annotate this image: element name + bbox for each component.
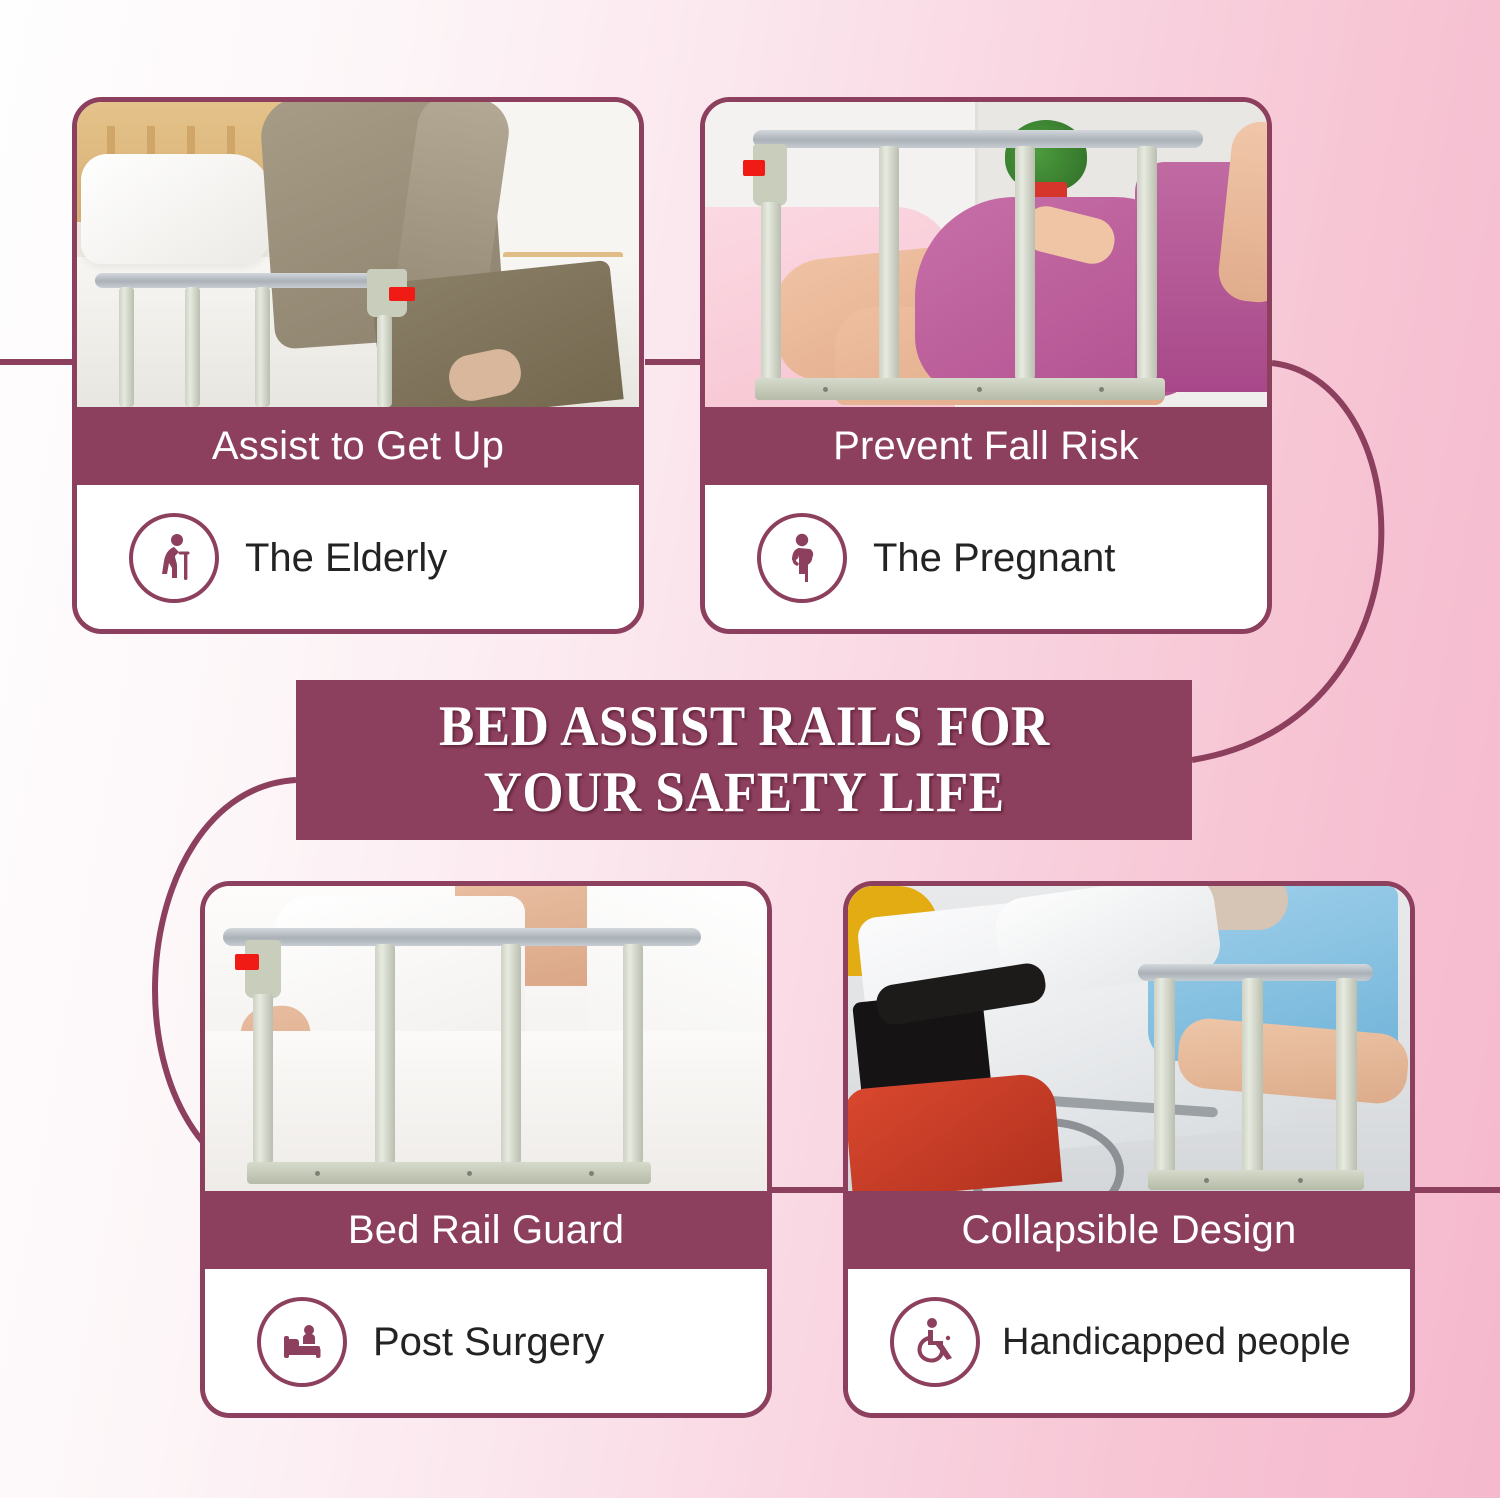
card-title-elderly: Assist to Get Up	[77, 407, 639, 485]
main-title-line-1: BED ASSIST RAILS FOR	[439, 694, 1050, 760]
card-audience-pregnant: The Pregnant	[873, 536, 1115, 581]
pregnant-woman-icon	[757, 513, 847, 603]
bed-rail-product	[727, 130, 1207, 400]
card-audience-handicap: Handicapped people	[1002, 1321, 1351, 1364]
card-photo-handicap	[848, 886, 1410, 1191]
patient-in-bed-icon	[257, 1297, 347, 1387]
card-footer-handicap: Handicapped people	[848, 1269, 1410, 1415]
feature-card-elderly[interactable]: Assist to Get Up The Elderly	[72, 97, 644, 634]
elderly-with-cane-icon	[129, 513, 219, 603]
card-footer-elderly: The Elderly	[77, 485, 639, 631]
main-title-line-2: YOUR SAFETY LIFE	[484, 760, 1005, 826]
card-title-handicap: Collapsible Design	[848, 1191, 1410, 1269]
bed-rail-product	[1138, 964, 1388, 1189]
main-title-banner: BED ASSIST RAILS FOR YOUR SAFETY LIFE	[296, 680, 1192, 840]
card-photo-elderly	[77, 102, 639, 407]
card-photo-pregnant	[705, 102, 1267, 407]
card-audience-surgery: Post Surgery	[373, 1320, 604, 1365]
bed-rail-product	[223, 928, 723, 1186]
feature-card-handicap[interactable]: Collapsible Design Handicapped people	[843, 881, 1415, 1418]
feature-card-pregnant[interactable]: Prevent Fall Risk The Pregnant	[700, 97, 1272, 634]
card-footer-surgery: Post Surgery	[205, 1269, 767, 1415]
card-audience-elderly: The Elderly	[245, 536, 447, 581]
bed-rail-product	[95, 267, 425, 407]
wheelchair-accessibility-icon	[890, 1297, 980, 1387]
card-photo-surgery	[205, 886, 767, 1191]
card-title-surgery: Bed Rail Guard	[205, 1191, 767, 1269]
card-title-pregnant: Prevent Fall Risk	[705, 407, 1267, 485]
feature-card-surgery[interactable]: Bed Rail Guard Post Surgery	[200, 881, 772, 1418]
card-footer-pregnant: The Pregnant	[705, 485, 1267, 631]
